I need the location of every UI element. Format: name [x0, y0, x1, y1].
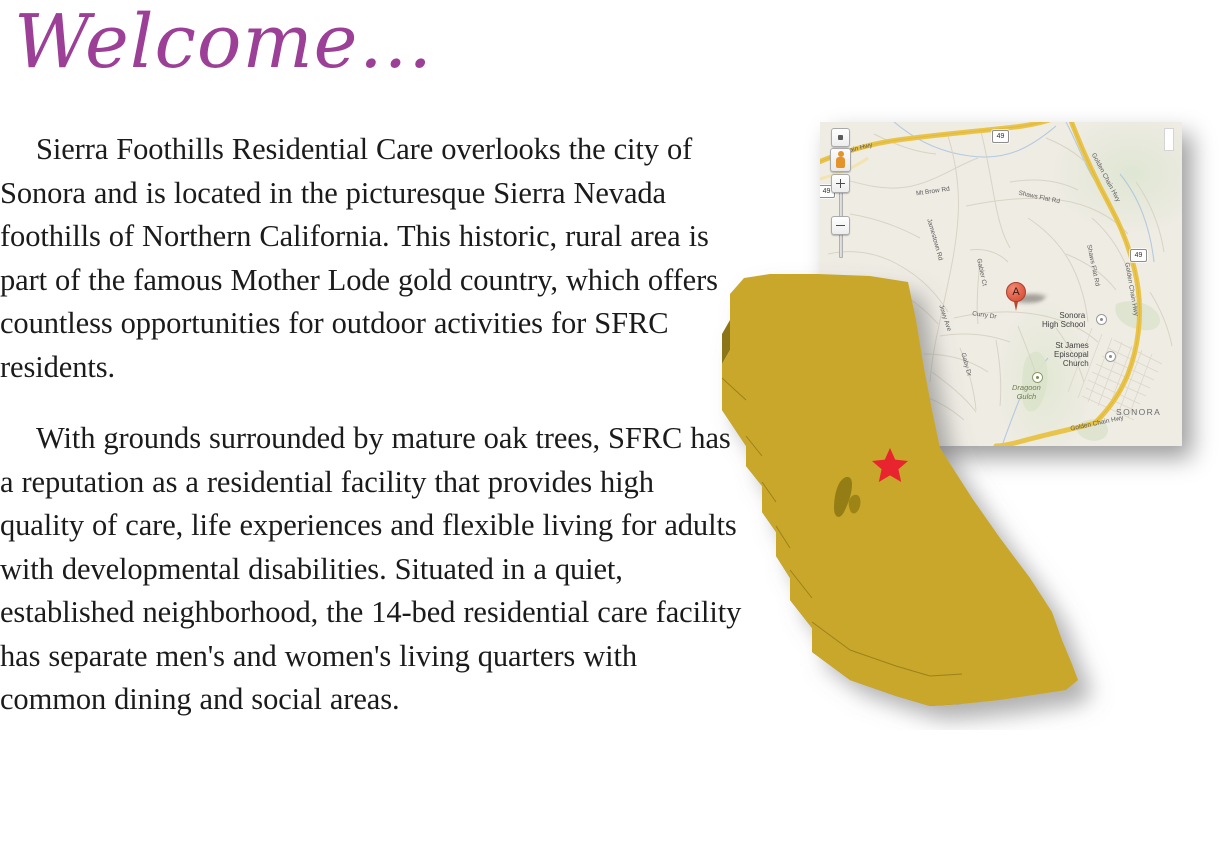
highway-shield-49-east: 49 [1130, 249, 1147, 262]
street-view-pegman-icon[interactable] [830, 148, 851, 172]
map-pan-button[interactable] [831, 128, 850, 147]
map-zoom-controls[interactable] [828, 128, 854, 236]
map-zoom-out-button[interactable] [831, 216, 850, 235]
body-copy-column: Sierra Foothills Residential Care overlo… [0, 128, 742, 750]
pegman-figure-icon [836, 151, 845, 169]
california-3d-svg [700, 260, 1120, 730]
location-graphics: 49 49 49 Mt Brow Rd Jamestown Rd Shaws F… [700, 110, 1232, 720]
highway-shield-49-north: 49 [992, 130, 1009, 143]
california-body [722, 274, 1078, 706]
page-title: Welcome… [14, 4, 433, 82]
california-top-face [722, 274, 1078, 706]
facility-paragraph: With grounds surrounded by mature oak tr… [0, 417, 742, 722]
map-zoom-in-button[interactable] [831, 174, 850, 193]
map-scrollbar-stub[interactable] [1164, 128, 1174, 151]
california-state-graphic [700, 260, 1120, 730]
intro-paragraph: Sierra Foothills Residential Care overlo… [0, 128, 742, 389]
